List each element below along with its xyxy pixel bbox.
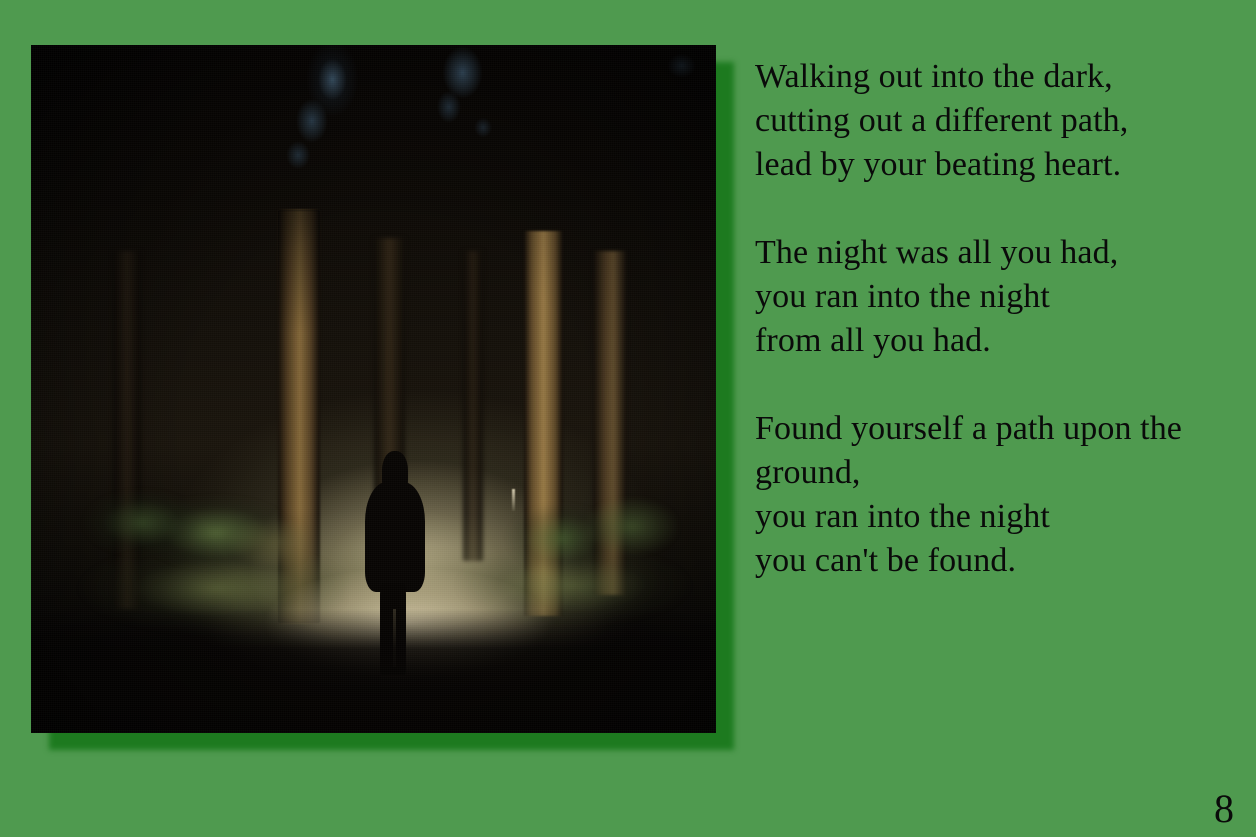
poem-line: lead by your beating heart. [755,143,1247,187]
poem-line: cutting out a different path, [755,99,1247,143]
poem-stanza-1: Walking out into the dark, cutting out a… [755,55,1247,187]
photo-film-grain [31,45,716,733]
poem-line: you ran into the night [755,495,1247,539]
photo-container [31,45,716,733]
poem-text: Walking out into the dark, cutting out a… [755,55,1247,583]
poem-slide: Walking out into the dark, cutting out a… [0,0,1256,837]
poem-line: Walking out into the dark, [755,55,1247,99]
poem-line: Found yourself a path upon the ground, [755,407,1247,495]
poem-stanza-2: The night was all you had, you ran into … [755,231,1247,363]
poem-line: The night was all you had, [755,231,1247,275]
night-forest-photo [31,45,716,733]
page-number: 8 [1214,789,1234,829]
poem-stanza-3: Found yourself a path upon the ground, y… [755,407,1247,583]
poem-line: you ran into the night [755,275,1247,319]
poem-line: from all you had. [755,319,1247,363]
poem-line: you can't be found. [755,539,1247,583]
